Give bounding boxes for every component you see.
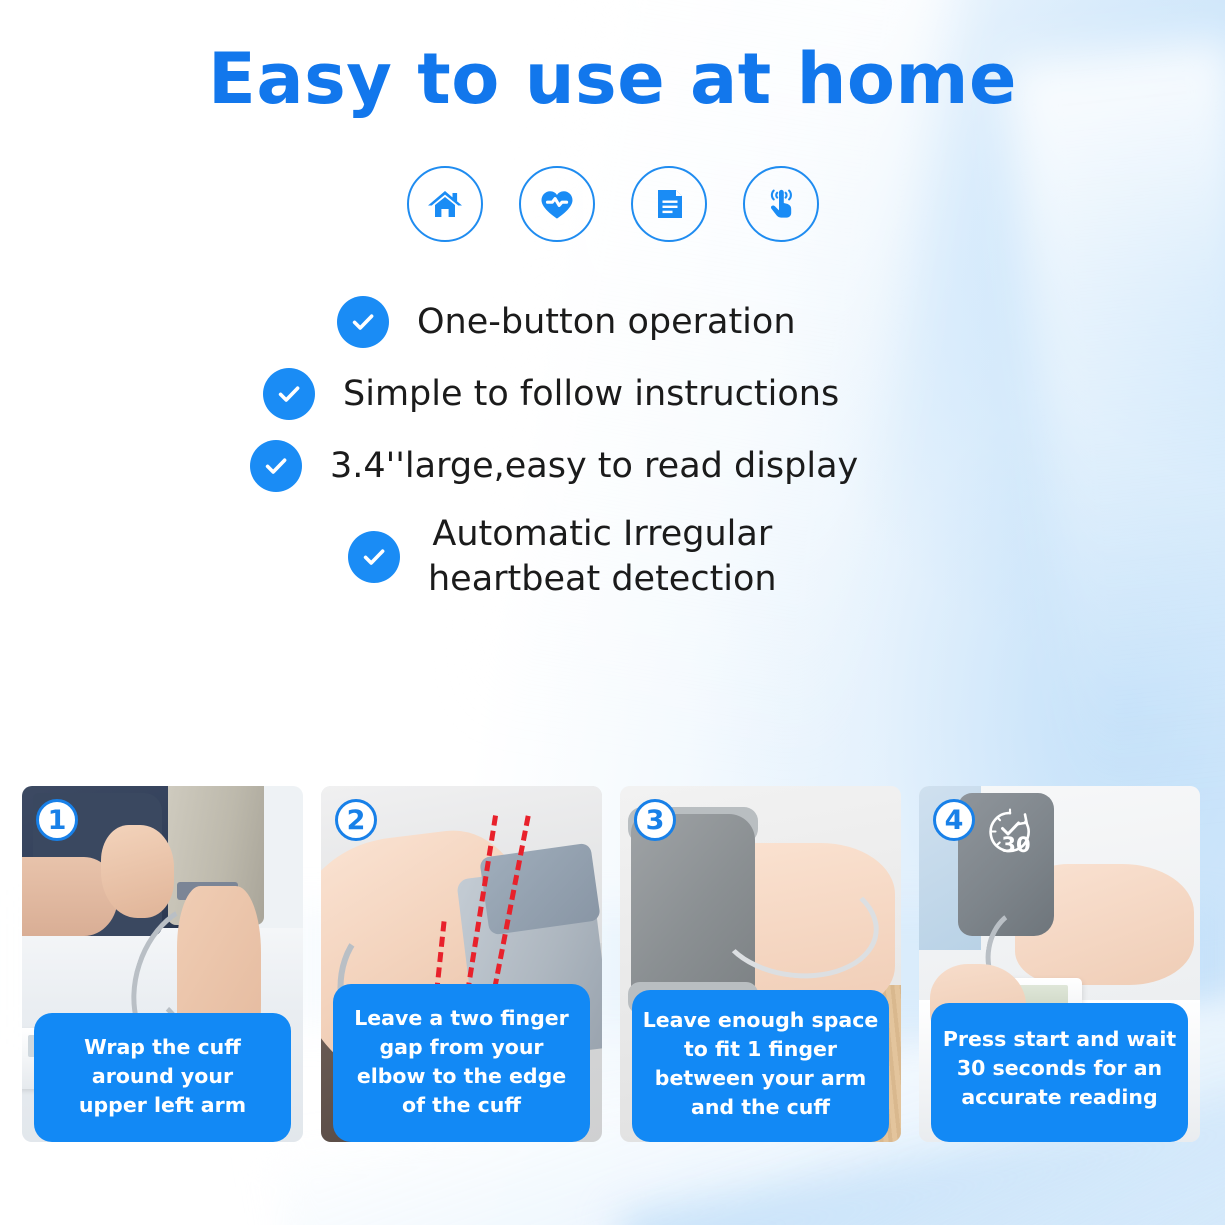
timer-value: 30	[1001, 833, 1030, 857]
step-caption: Leave enough space to fit 1 finger betwe…	[632, 990, 889, 1142]
feature-item-simple-instructions: Simple to follow instructions	[0, 368, 1225, 420]
check-icon	[263, 368, 315, 420]
check-icon	[337, 296, 389, 348]
heart-pulse-icon	[519, 166, 595, 242]
feature-list: One-button operation Simple to follow in…	[0, 296, 1225, 622]
feature-item-irregular-heartbeat-detection: Automatic Irregular heartbeat detection	[0, 512, 1225, 602]
step-card-4: 30 4 Press start and wait 30 seconds for…	[919, 786, 1200, 1142]
step-card-2: 2 Leave a two finger gap from your elbow…	[321, 786, 602, 1142]
feature-icon-row	[0, 166, 1225, 242]
feature-label: Automatic Irregular heartbeat detection	[428, 512, 777, 602]
feature-item-large-display: 3.4''large,easy to read display	[0, 440, 1225, 492]
step-number-badge: 1	[36, 799, 78, 841]
feature-item-one-button-operation: One-button operation	[0, 296, 1225, 348]
document-icon	[631, 166, 707, 242]
touch-tap-icon	[743, 166, 819, 242]
step-number-badge: 4	[933, 799, 975, 841]
check-icon	[348, 531, 400, 583]
step-caption: Wrap the cuff around your upper left arm	[34, 1013, 291, 1142]
feature-label: Simple to follow instructions	[343, 372, 839, 417]
page-title: Easy to use at home	[0, 44, 1225, 114]
home-icon	[407, 166, 483, 242]
step-number-badge: 2	[335, 799, 377, 841]
timer-icon: 30	[981, 804, 1039, 862]
feature-label: One-button operation	[417, 300, 796, 345]
step-card-1: 1 Wrap the cuff around your upper left a…	[22, 786, 303, 1142]
check-icon	[250, 440, 302, 492]
page-content: Easy to use at home	[0, 0, 1225, 1225]
feature-label: 3.4''large,easy to read display	[330, 444, 858, 489]
step-number-badge: 3	[634, 799, 676, 841]
step-card-3: 3 Leave enough space to fit 1 finger bet…	[620, 786, 901, 1142]
step-card-row: 1 Wrap the cuff around your upper left a…	[22, 786, 1203, 1142]
step-caption: Press start and wait 30 seconds for an a…	[931, 1003, 1188, 1142]
step-caption: Leave a two finger gap from your elbow t…	[333, 984, 590, 1142]
